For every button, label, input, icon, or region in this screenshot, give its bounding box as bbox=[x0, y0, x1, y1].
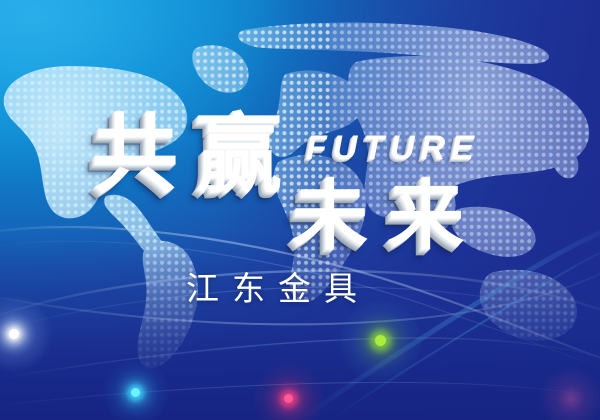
headline-char-wei: 未 bbox=[292, 178, 368, 254]
brand-name: 江东金具 bbox=[186, 272, 370, 305]
headline-char-gong: 共 bbox=[92, 112, 178, 198]
promo-banner: 共 赢 FUTURE 未 来 江东金具 bbox=[0, 0, 600, 420]
headline-char-ying: 赢 bbox=[196, 112, 282, 198]
headline-block: 共 赢 FUTURE 未 来 江东金具 bbox=[0, 0, 600, 420]
headline-future-word: FUTURE bbox=[306, 131, 480, 165]
headline-char-lai: 来 bbox=[388, 178, 464, 254]
